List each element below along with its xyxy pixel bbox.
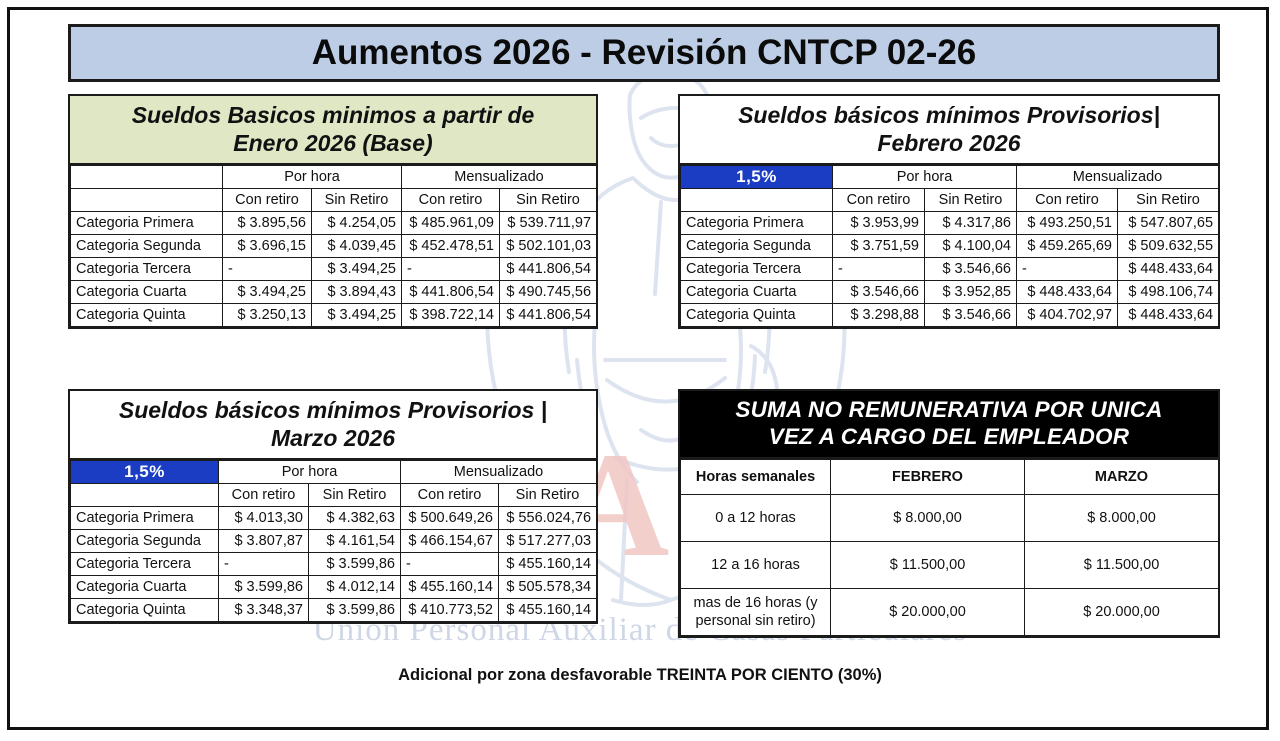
- group-header-mensualizado: Mensualizado: [402, 166, 597, 189]
- cell-mens-sin: $ 509.632,55: [1118, 235, 1219, 258]
- table-row: Categoria Segunda $ 3.807,87 $ 4.161,54 …: [71, 530, 597, 553]
- corner-cell-sub: [71, 189, 223, 212]
- table-header-row: Horas semanales FEBRERO MARZO: [681, 459, 1219, 494]
- cell-mens-con: $ 404.702,97: [1017, 304, 1118, 327]
- sub-header-ph-con-retiro: Con retiro: [223, 189, 312, 212]
- cell-por-hora-con: $ 3.599,86: [219, 576, 309, 599]
- table-title-marzo-line2: Marzo 2026: [78, 424, 588, 452]
- cell-por-hora-con: $ 4.013,30: [219, 507, 309, 530]
- percent-badge-marzo: 1,5%: [71, 461, 219, 484]
- table-header-sub-row: Con retiro Sin Retiro Con retiro Sin Ret…: [681, 189, 1219, 212]
- cell-por-hora-sin: $ 3.599,86: [309, 553, 401, 576]
- cell-mens-con: $ 441.806,54: [402, 281, 500, 304]
- percent-badge-febrero: 1,5%: [681, 166, 833, 189]
- cell-mens-sin: $ 556.024,76: [499, 507, 597, 530]
- table-row: Categoria Cuarta $ 3.494,25 $ 3.894,43 $…: [71, 281, 597, 304]
- cell-por-hora-con: $ 3.807,87: [219, 530, 309, 553]
- cell-por-hora-sin: $ 4.382,63: [309, 507, 401, 530]
- table-title-febrero: Sueldos básicos mínimos Provisorios| Feb…: [678, 94, 1220, 165]
- cell-mens-sin: $ 517.277,03: [499, 530, 597, 553]
- row-label: Categoria Primera: [681, 212, 833, 235]
- row-label: Categoria Segunda: [71, 235, 223, 258]
- sub-header-m-sin-retiro: Sin Retiro: [500, 189, 597, 212]
- cell-febrero: $ 8.000,00: [831, 494, 1025, 541]
- cell-por-hora-con: $ 3.751,59: [833, 235, 925, 258]
- table-header-sub-row: Con retiro Sin Retiro Con retiro Sin Ret…: [71, 484, 597, 507]
- table-header-group-row: 1,5% Por hora Mensualizado: [681, 166, 1219, 189]
- table-suma-no-remunerativa: Horas semanales FEBRERO MARZO 0 a 12 hor…: [680, 459, 1219, 636]
- table-row: Categoria Primera $ 3.895,56 $ 4.254,05 …: [71, 212, 597, 235]
- page-title: Aumentos 2026 - Revisión CNTCP 02-26: [312, 33, 977, 73]
- table-block-marzo: Sueldos básicos mínimos Provisorios | Ma…: [68, 389, 598, 624]
- table-title-enero-line2: Enero 2026 (Base): [78, 129, 588, 157]
- row-label: Categoria Primera: [71, 212, 223, 235]
- cell-por-hora-con: -: [219, 553, 309, 576]
- cell-mens-con: -: [401, 553, 499, 576]
- group-header-mensualizado: Mensualizado: [1017, 166, 1219, 189]
- row-label: Categoria Segunda: [71, 530, 219, 553]
- table-grid-suma-wrapper: Horas semanales FEBRERO MARZO 0 a 12 hor…: [678, 459, 1220, 638]
- cell-por-hora-con: $ 3.895,56: [223, 212, 312, 235]
- table-row: Categoria Segunda $ 3.751,59 $ 4.100,04 …: [681, 235, 1219, 258]
- row-label: Categoria Primera: [71, 507, 219, 530]
- table-header-group-row: Por hora Mensualizado: [71, 166, 597, 189]
- cell-por-hora-con: -: [223, 258, 312, 281]
- cell-mens-con: -: [1017, 258, 1118, 281]
- document-title-bar: Aumentos 2026 - Revisión CNTCP 02-26: [68, 24, 1220, 82]
- table-block-enero: Sueldos Basicos minimos a partir de Ener…: [68, 94, 598, 329]
- cell-mens-con: $ 500.649,26: [401, 507, 499, 530]
- cell-mens-con: $ 448.433,64: [1017, 281, 1118, 304]
- cell-febrero: $ 20.000,00: [831, 588, 1025, 635]
- cell-por-hora-con: $ 3.696,15: [223, 235, 312, 258]
- cell-por-hora-sin: $ 4.012,14: [309, 576, 401, 599]
- table-grid-marzo-wrapper: 1,5% Por hora Mensualizado Con retiro Si…: [68, 460, 598, 624]
- cell-marzo: $ 8.000,00: [1025, 494, 1219, 541]
- cell-mens-sin: $ 455.160,14: [499, 599, 597, 622]
- row-label: Categoria Cuarta: [71, 281, 223, 304]
- sub-header-ph-con-retiro: Con retiro: [219, 484, 309, 507]
- cell-mens-con: -: [402, 258, 500, 281]
- corner-cell-sub: [71, 484, 219, 507]
- row-label: Categoria Quinta: [71, 599, 219, 622]
- cell-mens-con: $ 398.722,14: [402, 304, 500, 327]
- cell-por-hora-con: $ 3.494,25: [223, 281, 312, 304]
- cell-mens-con: $ 466.154,67: [401, 530, 499, 553]
- cell-marzo: $ 20.000,00: [1025, 588, 1219, 635]
- footer-note: Adicional por zona desfavorable TREINTA …: [0, 666, 1280, 685]
- row-label: Categoria Cuarta: [681, 281, 833, 304]
- table-title-suma-line2: VEZ A CARGO DEL EMPLEADOR: [688, 423, 1210, 450]
- table-enero: Por hora Mensualizado Con retiro Sin Ret…: [70, 165, 597, 327]
- cell-mens-con: $ 410.773,52: [401, 599, 499, 622]
- cell-mens-sin: $ 505.578,34: [499, 576, 597, 599]
- table-title-enero: Sueldos Basicos minimos a partir de Ener…: [68, 94, 598, 165]
- cell-por-hora-sin: $ 3.494,25: [312, 304, 402, 327]
- table-row: Categoria Tercera - $ 3.546,66 - $ 448.4…: [681, 258, 1219, 281]
- cell-por-hora-sin: $ 4.039,45: [312, 235, 402, 258]
- group-header-mensualizado: Mensualizado: [401, 461, 597, 484]
- row-label: Categoria Tercera: [71, 553, 219, 576]
- cell-por-hora-sin: $ 3.952,85: [925, 281, 1017, 304]
- row-label: Categoria Quinta: [681, 304, 833, 327]
- cell-por-hora-con: $ 3.953,99: [833, 212, 925, 235]
- table-title-febrero-line2: Febrero 2026: [688, 129, 1210, 157]
- cell-horas: 12 a 16 horas: [681, 541, 831, 588]
- cell-por-hora-con: $ 3.348,37: [219, 599, 309, 622]
- cell-horas: 0 a 12 horas: [681, 494, 831, 541]
- cell-mens-sin: $ 547.807,65: [1118, 212, 1219, 235]
- table-title-suma: SUMA NO REMUNERATIVA POR UNICA VEZ A CAR…: [678, 389, 1220, 459]
- cell-mens-sin: $ 441.806,54: [500, 304, 597, 327]
- table-title-suma-line1: SUMA NO REMUNERATIVA POR UNICA: [688, 396, 1210, 423]
- table-row: Categoria Cuarta $ 3.546,66 $ 3.952,85 $…: [681, 281, 1219, 304]
- cell-mens-con: $ 452.478,51: [402, 235, 500, 258]
- header-febrero: FEBRERO: [831, 459, 1025, 494]
- table-row: Categoria Cuarta $ 3.599,86 $ 4.012,14 $…: [71, 576, 597, 599]
- table-row: 12 a 16 horas $ 11.500,00 $ 11.500,00: [681, 541, 1219, 588]
- cell-por-hora-sin: $ 3.494,25: [312, 258, 402, 281]
- table-title-febrero-line1: Sueldos básicos mínimos Provisorios|: [688, 101, 1210, 129]
- table-row: Categoria Segunda $ 3.696,15 $ 4.039,45 …: [71, 235, 597, 258]
- table-row: Categoria Quinta $ 3.348,37 $ 3.599,86 $…: [71, 599, 597, 622]
- cell-mens-sin: $ 502.101,03: [500, 235, 597, 258]
- cell-mens-sin: $ 490.745,56: [500, 281, 597, 304]
- header-marzo: MARZO: [1025, 459, 1219, 494]
- cell-mens-con: $ 459.265,69: [1017, 235, 1118, 258]
- row-label: Categoria Quinta: [71, 304, 223, 327]
- cell-mens-sin: $ 448.433,64: [1118, 304, 1219, 327]
- cell-por-hora-sin: $ 3.599,86: [309, 599, 401, 622]
- table-title-marzo-line1: Sueldos básicos mínimos Provisorios |: [78, 396, 588, 424]
- cell-febrero: $ 11.500,00: [831, 541, 1025, 588]
- row-label: Categoria Tercera: [681, 258, 833, 281]
- cell-por-hora-con: $ 3.546,66: [833, 281, 925, 304]
- sub-header-ph-con-retiro: Con retiro: [833, 189, 925, 212]
- table-title-enero-line1: Sueldos Basicos minimos a partir de: [78, 101, 588, 129]
- table-marzo: 1,5% Por hora Mensualizado Con retiro Si…: [70, 460, 597, 622]
- table-header-group-row: 1,5% Por hora Mensualizado: [71, 461, 597, 484]
- cell-por-hora-sin: $ 3.546,66: [925, 258, 1017, 281]
- row-label: Categoria Cuarta: [71, 576, 219, 599]
- sub-header-m-sin-retiro: Sin Retiro: [1118, 189, 1219, 212]
- sub-header-ph-sin-retiro: Sin Retiro: [925, 189, 1017, 212]
- table-febrero: 1,5% Por hora Mensualizado Con retiro Si…: [680, 165, 1219, 327]
- cell-mens-sin: $ 539.711,97: [500, 212, 597, 235]
- group-header-por-hora: Por hora: [219, 461, 401, 484]
- cell-mens-con: $ 493.250,51: [1017, 212, 1118, 235]
- sub-header-m-con-retiro: Con retiro: [1017, 189, 1118, 212]
- cell-por-hora-con: -: [833, 258, 925, 281]
- cell-mens-sin: $ 448.433,64: [1118, 258, 1219, 281]
- cell-por-hora-sin: $ 3.894,43: [312, 281, 402, 304]
- sub-header-ph-sin-retiro: Sin Retiro: [312, 189, 402, 212]
- table-block-suma-no-remunerativa: SUMA NO REMUNERATIVA POR UNICA VEZ A CAR…: [678, 389, 1220, 638]
- header-horas-semanales: Horas semanales: [681, 459, 831, 494]
- cell-por-hora-con: $ 3.250,13: [223, 304, 312, 327]
- corner-cell-sub: [681, 189, 833, 212]
- cell-mens-con: $ 485.961,09: [402, 212, 500, 235]
- table-row: Categoria Tercera - $ 3.599,86 - $ 455.1…: [71, 553, 597, 576]
- table-row: 0 a 12 horas $ 8.000,00 $ 8.000,00: [681, 494, 1219, 541]
- group-header-por-hora: Por hora: [833, 166, 1017, 189]
- table-row: Categoria Tercera - $ 3.494,25 - $ 441.8…: [71, 258, 597, 281]
- table-header-sub-row: Con retiro Sin Retiro Con retiro Sin Ret…: [71, 189, 597, 212]
- cell-por-hora-con: $ 3.298,88: [833, 304, 925, 327]
- cell-marzo: $ 11.500,00: [1025, 541, 1219, 588]
- corner-cell: [71, 166, 223, 189]
- sub-header-m-con-retiro: Con retiro: [401, 484, 499, 507]
- cell-por-hora-sin: $ 4.100,04: [925, 235, 1017, 258]
- table-grid-enero-wrapper: Por hora Mensualizado Con retiro Sin Ret…: [68, 165, 598, 329]
- cell-mens-sin: $ 498.106,74: [1118, 281, 1219, 304]
- cell-por-hora-sin: $ 4.254,05: [312, 212, 402, 235]
- row-label: Categoria Segunda: [681, 235, 833, 258]
- group-header-por-hora: Por hora: [223, 166, 402, 189]
- cell-mens-sin: $ 455.160,14: [499, 553, 597, 576]
- table-row: Categoria Quinta $ 3.250,13 $ 3.494,25 $…: [71, 304, 597, 327]
- cell-por-hora-sin: $ 4.161,54: [309, 530, 401, 553]
- sub-header-ph-sin-retiro: Sin Retiro: [309, 484, 401, 507]
- sub-header-m-sin-retiro: Sin Retiro: [499, 484, 597, 507]
- cell-por-hora-sin: $ 4.317,86: [925, 212, 1017, 235]
- sub-header-m-con-retiro: Con retiro: [402, 189, 500, 212]
- row-label: Categoria Tercera: [71, 258, 223, 281]
- cell-por-hora-sin: $ 3.546,66: [925, 304, 1017, 327]
- table-row: Categoria Primera $ 3.953,99 $ 4.317,86 …: [681, 212, 1219, 235]
- cell-mens-sin: $ 441.806,54: [500, 258, 597, 281]
- cell-horas: mas de 16 horas (y personal sin retiro): [681, 588, 831, 635]
- table-grid-febrero-wrapper: 1,5% Por hora Mensualizado Con retiro Si…: [678, 165, 1220, 329]
- table-row: Categoria Primera $ 4.013,30 $ 4.382,63 …: [71, 507, 597, 530]
- table-row: Categoria Quinta $ 3.298,88 $ 3.546,66 $…: [681, 304, 1219, 327]
- cell-mens-con: $ 455.160,14: [401, 576, 499, 599]
- table-row: mas de 16 horas (y personal sin retiro) …: [681, 588, 1219, 635]
- table-block-febrero: Sueldos básicos mínimos Provisorios| Feb…: [678, 94, 1220, 329]
- table-title-marzo: Sueldos básicos mínimos Provisorios | Ma…: [68, 389, 598, 460]
